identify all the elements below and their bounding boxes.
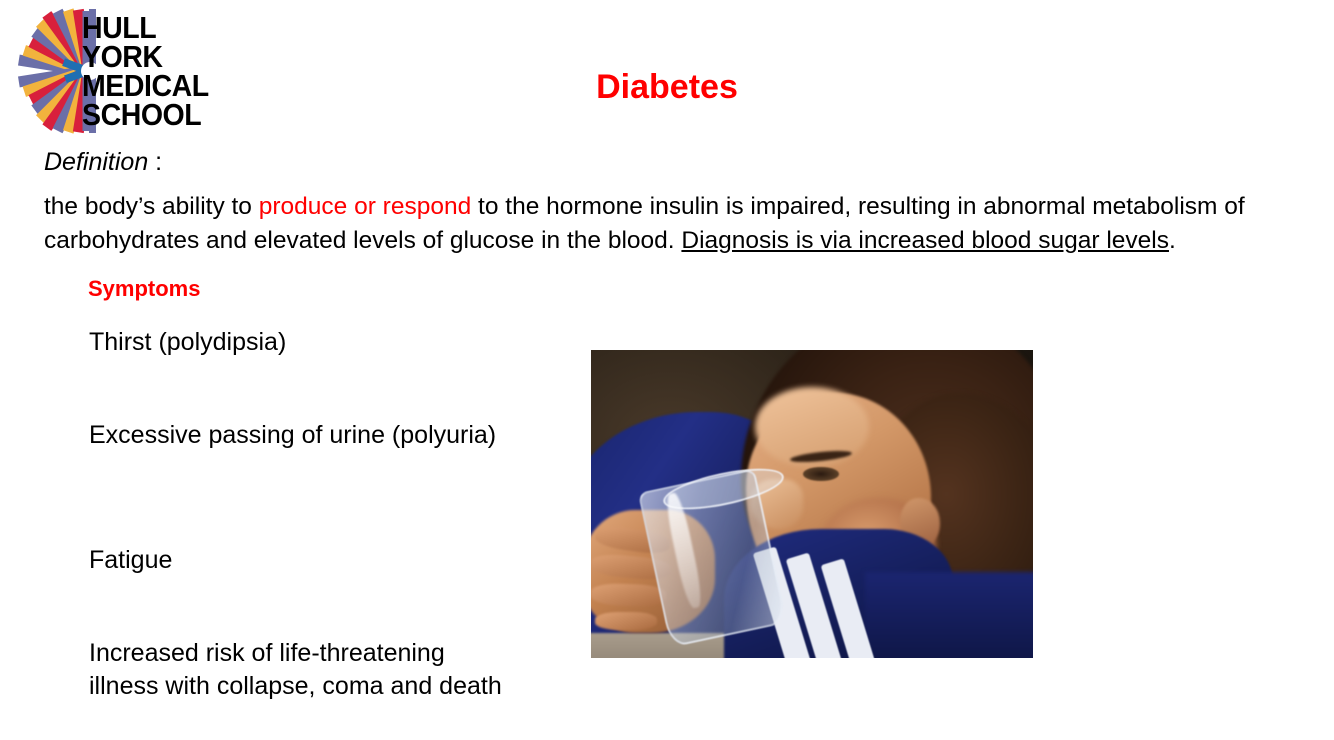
photo-eye — [803, 467, 838, 481]
definition-label-word: Definition — [44, 148, 148, 176]
definition-text-part1: the body’s ability to — [44, 193, 259, 220]
symptom-item-fatigue: Fatigue — [89, 544, 519, 577]
symptom-item-thirst: Thirst (polydipsia) — [89, 326, 519, 359]
definition-label-colon: : — [148, 148, 162, 176]
logo-line-2: YORK — [82, 42, 229, 71]
definition-body: the body’s ability to produce or respond… — [44, 190, 1274, 258]
slide-canvas: HULL YORK MEDICAL SCHOOL Diabetes Defini… — [0, 0, 1334, 740]
symptoms-heading: Symptoms — [88, 276, 200, 302]
symptom-item-life-threatening-illness: Increased risk of life-threatening illne… — [89, 637, 519, 703]
symptom-item-polyuria: Excessive passing of urine (polyuria) — [89, 419, 519, 452]
slide-title: Diabetes — [0, 68, 1334, 107]
definition-label: Definition : — [44, 146, 162, 178]
photo-finger — [591, 583, 666, 607]
photo-finger — [595, 612, 657, 630]
photo-blue-garment-right — [865, 572, 1033, 658]
definition-underlined-diagnosis: Diagnosis is via increased blood sugar l… — [681, 227, 1169, 254]
definition-highlight-produce-or-respond: produce or respond — [259, 193, 471, 220]
logo-line-1: HULL — [82, 13, 229, 42]
woman-drinking-water-photo — [591, 350, 1033, 658]
definition-text-part3: . — [1169, 227, 1176, 254]
